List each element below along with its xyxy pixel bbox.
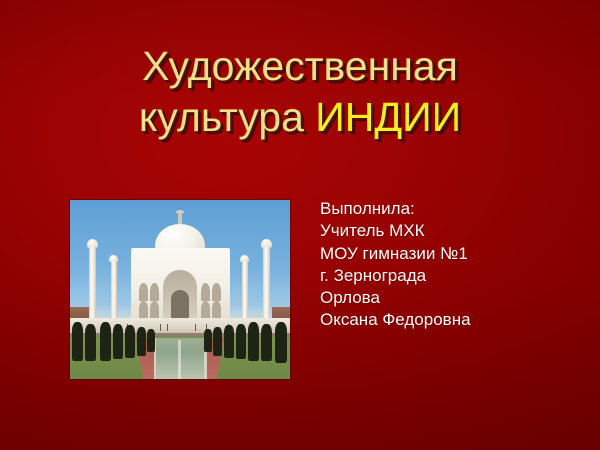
side-arch-lower-3 [201,301,210,318]
credit-line-6: Оксана Федоровна [320,309,570,331]
credit-line-4: г. Зернограда [320,265,570,287]
taj-mahal-photo-canvas [70,200,290,379]
cypress-tree [113,324,123,360]
author-credits: Выполнила: Учитель МХК МОУ гимназии №1 г… [320,198,570,332]
mausoleum-body [131,248,230,320]
title-line-2: культура ИНДИИ [0,97,600,139]
side-arch-upper-1 [139,283,148,302]
minaret-outer-right [263,247,270,329]
cypress-tree [100,322,111,361]
side-arch-upper-2 [150,283,159,302]
title-line-1: Художественная [0,46,600,88]
cypress-tree [85,324,96,362]
side-arch-lower-2 [150,301,159,318]
side-arch-upper-3 [201,283,210,302]
central-iwan-recess [171,290,189,320]
cypress-tree [224,325,234,357]
cypress-tree [236,324,246,360]
side-arch-upper-4 [212,283,221,302]
cypress-tree [125,325,135,357]
taj-mahal-photo [70,200,290,379]
pool-center-walkway [178,340,181,379]
cypress-tree [248,322,259,361]
visitor-figure [195,324,196,331]
title-line-2-word-india: ИНДИИ [315,94,461,140]
credit-line-1: Выполнила: [320,198,570,220]
visitor-figure [160,324,161,331]
credit-line-5: Орлова [320,287,570,309]
side-arch-lower-1 [139,301,148,318]
minaret-outer-left [89,247,96,329]
cypress-tree [147,329,155,352]
cypress-tree [275,322,287,363]
side-arch-lower-4 [212,301,221,318]
cypress-tree [261,324,272,362]
visitor-figure [167,324,168,330]
cypress-tree [204,329,212,352]
title-line-2-word-culture: культура [139,94,304,140]
cypress-tree [72,322,83,361]
credit-line-2: Учитель МХК [320,220,570,242]
credit-line-3: МОУ гимназии №1 [320,243,570,265]
cypress-tree [137,327,146,356]
presentation-slide: Художественная культура ИНДИИ [0,0,600,450]
slide-title: Художественная культура ИНДИИ [0,46,600,139]
central-iwan-arch [163,270,197,320]
cypress-tree [213,327,222,356]
